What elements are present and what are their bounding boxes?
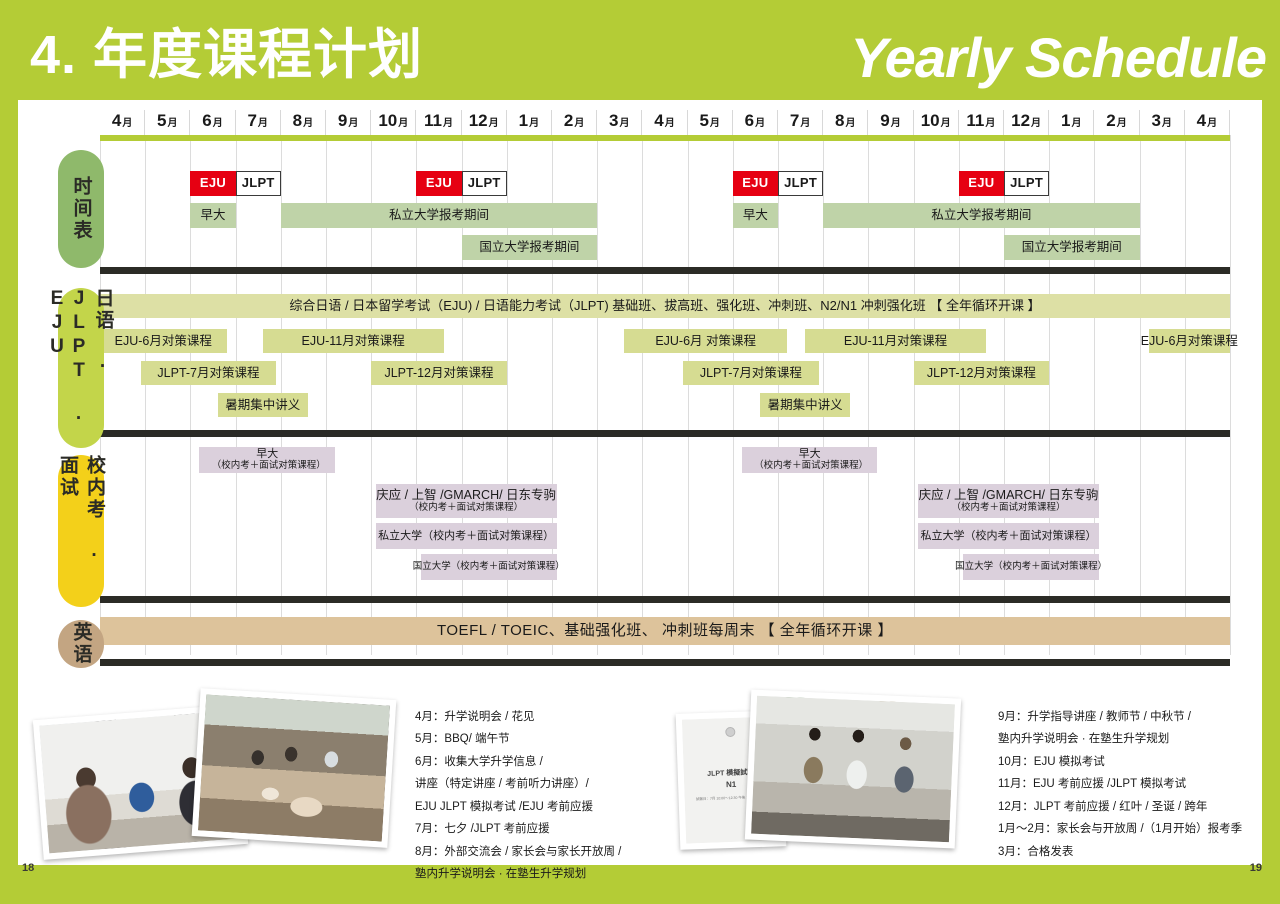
bar-label: TOEFL / TOEIC、基础强化班、 冲刺班每周末 【 全年循环开课 】 — [437, 622, 893, 639]
toefl-toeic[interactable]: TOEFL / TOEIC、基础强化班、 冲刺班每周末 【 全年循环开课 】 — [100, 617, 1230, 645]
eju-jun-prep-1[interactable]: EJU-6月对策课程 — [100, 329, 227, 353]
bar-sublabel: （校内考＋面试对策课程） — [409, 503, 523, 514]
legend-line: 9月：升学指导讲座 / 教师节 / 中秋节 / — [998, 706, 1242, 728]
waseda-y2[interactable]: 早大 — [733, 203, 778, 228]
legend-line: 1月～2月：家长会与开放周 /（1月开始）报考季 — [998, 818, 1242, 840]
month-header-cell: 10月 — [914, 110, 959, 135]
bar-label: 早大 — [743, 208, 768, 222]
eju-nov-prep-1[interactable]: EJU-11月对策课程 — [263, 329, 444, 353]
month-header-cell: 6月 — [733, 110, 778, 135]
legend-line: 12月：JLPT 考前应援 / 红叶 / 圣诞 / 跨年 — [998, 796, 1242, 818]
bar-label: 私立大学（校内考＋面试对策课程） — [378, 530, 554, 543]
month-header-cell: 3月 — [597, 110, 642, 135]
month-header-row: 4月5月6月7月8月9月10月11月12月1月2月3月4月5月6月7月8月9月1… — [100, 110, 1230, 135]
legend-line: 5月：BBQ/ 端午节 — [415, 728, 621, 750]
private-univ-y1[interactable]: 私立大学报考期间 — [281, 203, 597, 228]
section-divider — [100, 430, 1230, 437]
page-number-right: 19 — [1250, 862, 1262, 874]
jlpt-jul-prep-2[interactable]: JLPT-7月对策课程 — [683, 361, 819, 385]
grid-line — [1230, 135, 1231, 655]
national-univ-y2[interactable]: 国立大学报考期间 — [1004, 235, 1140, 260]
grid-line — [688, 135, 689, 655]
month-unit: 月 — [258, 118, 268, 129]
section-pill-japanese[interactable]: 日语 · JLPT · EJU — [58, 288, 104, 448]
national-interview-1[interactable]: 国立大学（校内考＋面试对策课程） — [421, 554, 557, 580]
bar-label: 私立大学报考期间 — [389, 208, 489, 222]
month-unit: 月 — [941, 118, 951, 129]
bar-label: EJU — [200, 176, 226, 191]
bar-label: EJU — [968, 176, 994, 191]
private-univ-y2[interactable]: 私立大学报考期间 — [823, 203, 1139, 228]
section-pill-label: 英语 — [68, 622, 95, 666]
bar-label: 私立大学报考期间 — [931, 208, 1031, 222]
month-number: 9 — [880, 111, 889, 130]
bar-label: JLPT — [468, 176, 501, 191]
page-title-chinese: 4. 年度课程计划 — [30, 28, 423, 82]
month-header-cell: 3月 — [1140, 110, 1185, 135]
waseda-y1[interactable]: 早大 — [190, 203, 235, 228]
private-interview-2[interactable]: 私立大学（校内考＋面试对策课程） — [918, 523, 1099, 549]
jlpt-jul-y2[interactable]: JLPT — [778, 171, 823, 196]
month-header-cell: 7月 — [778, 110, 823, 135]
national-interview-2[interactable]: 国立大学（校内考＋面试对策课程） — [963, 554, 1099, 580]
bar-label: 暑期集中讲义 — [225, 398, 300, 412]
month-unit: 月 — [574, 118, 584, 129]
section-pill-label: 时间表 — [68, 176, 95, 242]
month-header-cell: 4月 — [642, 110, 687, 135]
jlpt-jul-y1[interactable]: JLPT — [236, 171, 281, 196]
page-title-english: Yearly Schedule — [850, 30, 1266, 86]
month-header-cell: 2月 — [552, 110, 597, 135]
month-header-cell: 5月 — [688, 110, 733, 135]
month-number: 5 — [699, 111, 708, 130]
legend-line: 7月：七夕 /JLPT 考前应援 — [415, 818, 621, 840]
month-unit: 月 — [1162, 118, 1172, 129]
month-number: 12 — [1011, 111, 1030, 130]
legend-line: 11月：EJU 考前应援 /JLPT 模拟考试 — [998, 773, 1242, 795]
month-header-cell: 11月 — [416, 110, 461, 135]
legend-line: 塾内升学说明会 · 在塾生升学规划 — [998, 728, 1242, 750]
bar-label: EJU-6月 对策课程 — [655, 334, 756, 348]
bar-label: EJU — [426, 176, 452, 191]
jlpt-dec-prep-2[interactable]: JLPT-12月对策课程 — [914, 361, 1050, 385]
month-unit: 月 — [529, 118, 539, 129]
grid-line — [145, 135, 146, 655]
bar-label: 私立大学（校内考＋面试对策课程） — [921, 530, 1097, 543]
legend-line: 讲座（特定讲座 / 考前听力讲座）/ — [415, 773, 621, 795]
legend-line: 6月：收集大学升学信息 / — [415, 751, 621, 773]
month-number: 10 — [378, 111, 397, 130]
section-pill-english[interactable]: 英语 — [58, 620, 104, 668]
month-header-cell: 5月 — [145, 110, 190, 135]
bar-label: 暑期集中讲义 — [768, 398, 843, 412]
legend-line: EJU JLPT 模拟考试 /EJU 考前应援 — [415, 796, 621, 818]
month-unit: 月 — [168, 118, 178, 129]
month-number: 1 — [1061, 111, 1070, 130]
month-number: 2 — [1106, 111, 1115, 130]
month-number: 5 — [157, 111, 166, 130]
bar-label: 庆应 / 上智 /GMARCH/ 日东专驹 — [376, 488, 556, 502]
month-number: 6 — [745, 111, 754, 130]
month-number: 4 — [1197, 111, 1206, 130]
legend-first-half: 4月：升学说明会 / 花见5月：BBQ/ 端午节6月：收集大学升学信息 /讲座（… — [415, 706, 621, 885]
month-number: 4 — [112, 111, 121, 130]
yearly-schedule-chart: 4月5月6月7月8月9月10月11月12月1月2月3月4月5月6月7月8月9月1… — [100, 110, 1230, 655]
eju-nov-y1[interactable]: EJU — [416, 171, 461, 196]
month-unit: 月 — [985, 118, 995, 129]
summer-intensive-2[interactable]: 暑期集中讲义 — [760, 393, 850, 417]
month-unit: 月 — [846, 118, 856, 129]
bar-sublabel: （校内考＋面试对策课程） — [754, 461, 868, 472]
bar-label: 庆应 / 上智 /GMARCH/ 日东专驹 — [919, 488, 1099, 502]
header-rule — [100, 135, 1230, 141]
month-header-cell: 11月 — [959, 110, 1004, 135]
jlpt-dec-y2[interactable]: JLPT — [1004, 171, 1049, 196]
jlpt-dec-prep-1[interactable]: JLPT-12月对策课程 — [371, 361, 507, 385]
month-header-cell: 4月 — [1185, 110, 1230, 135]
month-unit: 月 — [800, 118, 810, 129]
bar-sublabel: （校内考＋面试对策课程） — [952, 503, 1066, 514]
section-divider — [100, 596, 1230, 603]
month-unit: 月 — [1031, 118, 1041, 129]
month-header-cell: 8月 — [281, 110, 326, 135]
legend-second-half: 9月：升学指导讲座 / 教师节 / 中秋节 /塾内升学说明会 · 在塾生升学规划… — [998, 706, 1242, 863]
bar-label: EJU-11月对策课程 — [844, 334, 947, 348]
month-number: 4 — [654, 111, 663, 130]
bar-label: JLPT-12月对策课程 — [384, 366, 493, 380]
jlpt-jul-prep-1[interactable]: JLPT-7月对策课程 — [141, 361, 277, 385]
summer-intensive-1[interactable]: 暑期集中讲义 — [218, 393, 308, 417]
month-unit: 月 — [303, 118, 313, 129]
month-header-cell: 10月 — [371, 110, 416, 135]
section-pill-exam[interactable]: 校内考 · 面试 — [58, 455, 104, 607]
month-unit: 月 — [1207, 118, 1217, 129]
month-number: 3 — [1151, 111, 1160, 130]
section-pill-schedule[interactable]: 时间表 — [58, 150, 104, 268]
paper-pin-icon — [725, 727, 735, 737]
month-unit: 月 — [891, 118, 901, 129]
bar-label: JLPT-7月对策课程 — [700, 366, 802, 380]
bar-label: JLPT — [242, 176, 275, 191]
eju-jun-prep-2[interactable]: EJU-6月 对策课程 — [624, 329, 787, 353]
month-unit: 月 — [122, 118, 132, 129]
month-unit: 月 — [1072, 118, 1082, 129]
month-unit: 月 — [398, 118, 408, 129]
bar-label: 早大 — [200, 208, 225, 222]
photo-students-study — [745, 689, 961, 848]
month-number: 10 — [921, 111, 940, 130]
grid-line — [642, 135, 643, 655]
bar-label: JLPT-7月对策课程 — [157, 366, 259, 380]
bar-label: 早大 — [256, 448, 278, 461]
waseda-interview-1[interactable]: 早大（校内考＋面试对策课程） — [199, 447, 335, 473]
month-header-cell: 4月 — [100, 110, 145, 135]
month-number: 7 — [247, 111, 256, 130]
legend-line: 3月：合格发表 — [998, 841, 1242, 863]
grid-line — [597, 135, 598, 655]
month-unit: 月 — [1117, 118, 1127, 129]
month-number: 8 — [835, 111, 844, 130]
eju-nov-prep-2[interactable]: EJU-11月对策课程 — [805, 329, 986, 353]
month-number: 8 — [293, 111, 302, 130]
page-root: 4. 年度课程计划 Yearly Schedule 18 19 4月5月6月7月… — [0, 0, 1280, 904]
grid-line — [1185, 135, 1186, 655]
all-year-course[interactable]: 综合日语 / 日本留学考试（EJU) / 日语能力考试（JLPT) 基础班、拔高… — [100, 294, 1230, 318]
bar-label: EJU-11月对策课程 — [301, 334, 404, 348]
month-number: 3 — [609, 111, 618, 130]
month-unit: 月 — [665, 118, 675, 129]
waseda-interview-2[interactable]: 早大（校内考＋面试对策课程） — [742, 447, 878, 473]
bar-label: 国立大学报考期间 — [1022, 240, 1122, 254]
month-number: 11 — [966, 111, 984, 130]
month-header-cell: 7月 — [236, 110, 281, 135]
month-header-cell: 9月 — [868, 110, 913, 135]
month-header-cell: 12月 — [1004, 110, 1049, 135]
section-divider — [100, 659, 1230, 666]
photo-dinner-party — [192, 688, 397, 848]
month-unit: 月 — [213, 118, 223, 129]
month-number: 12 — [469, 111, 488, 130]
section-pill-label: 校内考 · 面试 — [54, 455, 108, 607]
jlpt-dec-y1[interactable]: JLPT — [462, 171, 507, 196]
legend-line: 8月：外部交流会 / 家长会与家长开放周 / — [415, 841, 621, 863]
month-unit: 月 — [710, 118, 720, 129]
keio-group-1[interactable]: 庆应 / 上智 /GMARCH/ 日东专驹（校内考＋面试对策课程） — [376, 484, 557, 518]
bar-label: JLPT — [1010, 176, 1043, 191]
grid-line — [1140, 135, 1141, 655]
bar-label: 综合日语 / 日本留学考试（EJU) / 日语能力考试（JLPT) 基础班、拔高… — [289, 299, 1040, 314]
legend-line: 塾内升学说明会 · 在塾生升学规划 — [415, 863, 621, 885]
schedule-grid: EJUJLPTEJUJLPTEJUJLPTEJUJLPT早大私立大学报考期间早大… — [100, 135, 1230, 655]
month-number: 2 — [564, 111, 573, 130]
month-header-cell: 8月 — [823, 110, 868, 135]
page-number-left: 18 — [22, 862, 34, 874]
month-unit: 月 — [755, 118, 765, 129]
bar-label: EJU-6月对策课程 — [1141, 334, 1238, 348]
eju-nov-y2[interactable]: EJU — [959, 171, 1004, 196]
month-header-cell: 6月 — [190, 110, 235, 135]
bar-sublabel: （校内考＋面试对策课程） — [212, 461, 326, 472]
bar-label: JLPT — [784, 176, 817, 191]
month-number: 7 — [790, 111, 799, 130]
eju-jun-y2[interactable]: EJU — [733, 171, 778, 196]
bar-label: 国立大学报考期间 — [479, 240, 579, 254]
month-header-cell: 12月 — [462, 110, 507, 135]
bar-label: JLPT-12月对策课程 — [927, 366, 1036, 380]
month-header-cell: 1月 — [1049, 110, 1094, 135]
month-unit: 月 — [443, 118, 453, 129]
section-pill-label: 日语 · JLPT · EJU — [46, 288, 117, 448]
section-divider — [100, 267, 1230, 274]
legend-line: 4月：升学说明会 / 花见 — [415, 706, 621, 728]
keio-group-2[interactable]: 庆应 / 上智 /GMARCH/ 日东专驹（校内考＋面试对策课程） — [918, 484, 1099, 518]
month-number: 11 — [424, 111, 442, 130]
bar-label: 国立大学（校内考＋面试对策课程） — [955, 562, 1107, 573]
bar-label: 早大 — [799, 448, 821, 461]
eju-jun-y1[interactable]: EJU — [190, 171, 235, 196]
month-unit: 月 — [489, 118, 499, 129]
month-header-cell: 2月 — [1094, 110, 1139, 135]
legend-line: 10月：EJU 模拟考试 — [998, 751, 1242, 773]
bar-label: EJU-6月对策课程 — [115, 334, 212, 348]
month-number: 9 — [338, 111, 347, 130]
month-unit: 月 — [348, 118, 358, 129]
month-header-cell: 9月 — [326, 110, 371, 135]
month-number: 6 — [202, 111, 211, 130]
month-number: 1 — [519, 111, 528, 130]
bar-label: EJU — [742, 176, 768, 191]
month-unit: 月 — [620, 118, 630, 129]
private-interview-1[interactable]: 私立大学（校内考＋面试对策课程） — [376, 523, 557, 549]
month-header-cell: 1月 — [507, 110, 552, 135]
bar-label: 国立大学（校内考＋面试对策课程） — [413, 562, 565, 573]
eju-jun-prep-3[interactable]: EJU-6月对策课程 — [1149, 329, 1230, 353]
national-univ-y1[interactable]: 国立大学报考期间 — [462, 235, 598, 260]
